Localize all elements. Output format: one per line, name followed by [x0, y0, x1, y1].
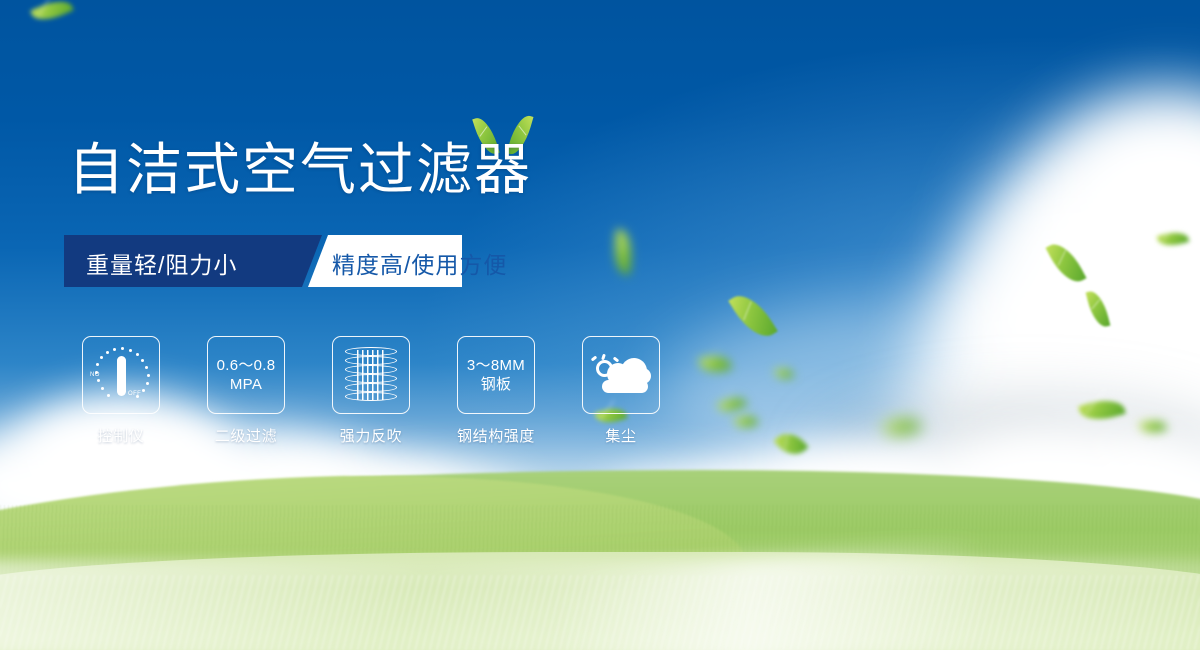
- feature-item-dust-collection[interactable]: Air 集尘: [582, 336, 660, 446]
- feature-label: 强力反吹: [340, 425, 402, 446]
- feature-icon-box: NO OFF: [82, 336, 160, 414]
- feature-icon-box: 0.6～0.8 MPA: [207, 336, 285, 414]
- feature-item-steel-strength[interactable]: 3～8MM 钢板 钢结构强度: [457, 336, 535, 446]
- page-title: 自洁式空气过滤器: [68, 142, 532, 198]
- tagline-left-text: 重量轻/阻力小: [86, 246, 237, 280]
- gauge-needle: [117, 356, 126, 396]
- feature-list: NO OFF 控制仪 0.6～0.8 MPA 二级过滤: [82, 336, 660, 446]
- steel-thickness-line2: 钢板: [481, 375, 512, 394]
- feature-icon-box: [332, 336, 410, 414]
- feature-icon-box: 3～8MM 钢板: [457, 336, 535, 414]
- pressure-value-line1: 0.6～0.8: [217, 356, 276, 375]
- filter-stack-icon: [345, 346, 397, 404]
- gauge-icon: NO OFF: [90, 346, 152, 404]
- feature-label: 控制仪: [98, 425, 145, 446]
- tagline-right-text: 精度高/使用方便: [332, 246, 507, 280]
- feature-label: 二级过滤: [215, 425, 277, 446]
- feature-icon-box: Air: [582, 336, 660, 414]
- feature-item-control-gauge[interactable]: NO OFF 控制仪: [82, 336, 160, 446]
- tagline-badge: 重量轻/阻力小 精度高/使用方便: [64, 235, 462, 287]
- grass-texture: [0, 575, 1200, 650]
- pressure-value-line2: MPA: [230, 375, 262, 394]
- product-hero-banner: 自洁式空气过滤器 重量轻/阻力小 精度高/使用方便: [0, 0, 1200, 650]
- cloud-air-icon: Air: [591, 354, 651, 396]
- gauge-label-on: NO: [90, 372, 100, 378]
- feature-label: 钢结构强度: [457, 425, 535, 446]
- feature-item-two-stage-filter[interactable]: 0.6～0.8 MPA 二级过滤: [207, 336, 285, 446]
- gauge-label-off: OFF: [128, 391, 141, 397]
- feature-label: 集尘: [605, 425, 636, 446]
- air-label: Air: [591, 375, 651, 389]
- feature-item-backflush[interactable]: 强力反吹: [332, 336, 410, 446]
- steel-thickness-line1: 3～8MM: [467, 356, 525, 375]
